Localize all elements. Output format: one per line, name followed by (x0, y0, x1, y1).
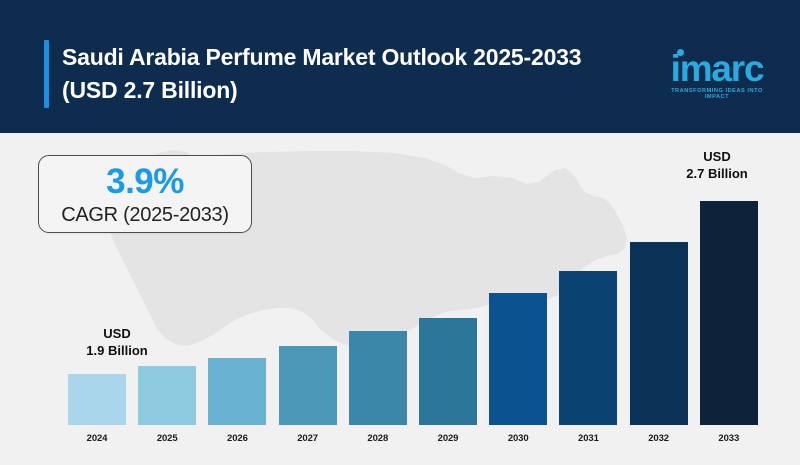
bar-rect-2027 (279, 346, 337, 425)
bar-2031: 2031 (559, 271, 617, 425)
bar-year-label-2025: 2025 (157, 433, 178, 444)
bar-chart: 2024202520262027202820292030203120322033 (0, 0, 800, 465)
bar-year-label-2031: 2031 (578, 433, 599, 444)
bar-rect-2030 (489, 293, 547, 425)
callout-last-amount: 2.7 Billion (672, 165, 762, 182)
bar-rect-2032 (630, 242, 688, 425)
bar-year-label-2024: 2024 (87, 433, 108, 444)
bar-2025: 2025 (138, 366, 196, 425)
bar-rect-2031 (559, 271, 617, 425)
callout-last-value: USD 2.7 Billion (672, 148, 762, 182)
bar-2032: 2032 (630, 242, 688, 425)
bar-2029: 2029 (419, 318, 477, 425)
bar-2030: 2030 (489, 293, 547, 425)
bar-year-label-2033: 2033 (718, 433, 739, 444)
bar-2024: 2024 (68, 374, 126, 425)
callout-first-unit: USD (72, 325, 162, 342)
bar-year-label-2028: 2028 (367, 433, 388, 444)
bar-2028: 2028 (349, 331, 407, 425)
bar-2033: 2033 (700, 201, 758, 425)
bar-year-label-2027: 2027 (297, 433, 318, 444)
bar-2026: 2026 (208, 358, 266, 425)
bar-rect-2026 (208, 358, 266, 425)
bar-rect-2024 (68, 374, 126, 425)
bar-year-label-2026: 2026 (227, 433, 248, 444)
bar-rect-2028 (349, 331, 407, 425)
callout-first-value: USD 1.9 Billion (72, 325, 162, 359)
callout-first-amount: 1.9 Billion (72, 342, 162, 359)
bar-rect-2033 (700, 201, 758, 425)
bar-rect-2025 (138, 366, 196, 425)
infographic-root: Saudi Arabia Perfume Market Outlook 2025… (0, 0, 800, 465)
bar-year-label-2032: 2032 (648, 433, 669, 444)
bar-year-label-2029: 2029 (438, 433, 459, 444)
bar-rect-2029 (419, 318, 477, 425)
callout-last-unit: USD (672, 148, 762, 165)
bar-year-label-2030: 2030 (508, 433, 529, 444)
bar-2027: 2027 (279, 346, 337, 425)
